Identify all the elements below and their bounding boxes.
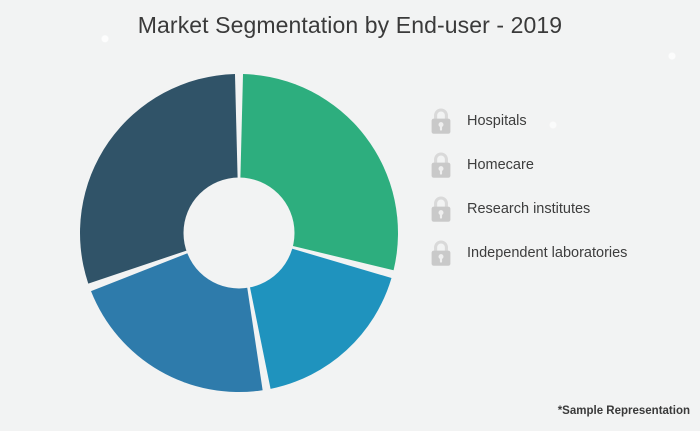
chart-title: Market Segmentation by End-user - 2019 bbox=[0, 12, 700, 39]
legend-item-independent-laboratories[interactable]: Independent laboratories bbox=[428, 231, 690, 275]
legend-item-homecare[interactable]: Homecare bbox=[428, 143, 690, 187]
legend-item-hospitals[interactable]: Hospitals bbox=[428, 99, 690, 143]
lock-icon bbox=[428, 151, 454, 179]
legend-item-research-institutes[interactable]: Research institutes bbox=[428, 187, 690, 231]
donut-chart-svg bbox=[79, 73, 399, 393]
donut-center-hole bbox=[184, 178, 295, 289]
lock-icon bbox=[428, 195, 454, 223]
legend-label: Research institutes bbox=[467, 201, 590, 217]
lock-icon bbox=[428, 107, 454, 135]
legend-label: Hospitals bbox=[467, 113, 527, 129]
chart-legend: Hospitals Homecare Research institutes I… bbox=[428, 99, 690, 275]
lock-icon bbox=[428, 239, 454, 267]
sample-representation-note: *Sample Representation bbox=[558, 405, 690, 417]
donut-chart bbox=[79, 73, 399, 393]
legend-label: Homecare bbox=[467, 157, 534, 173]
legend-label: Independent laboratories bbox=[467, 245, 627, 261]
